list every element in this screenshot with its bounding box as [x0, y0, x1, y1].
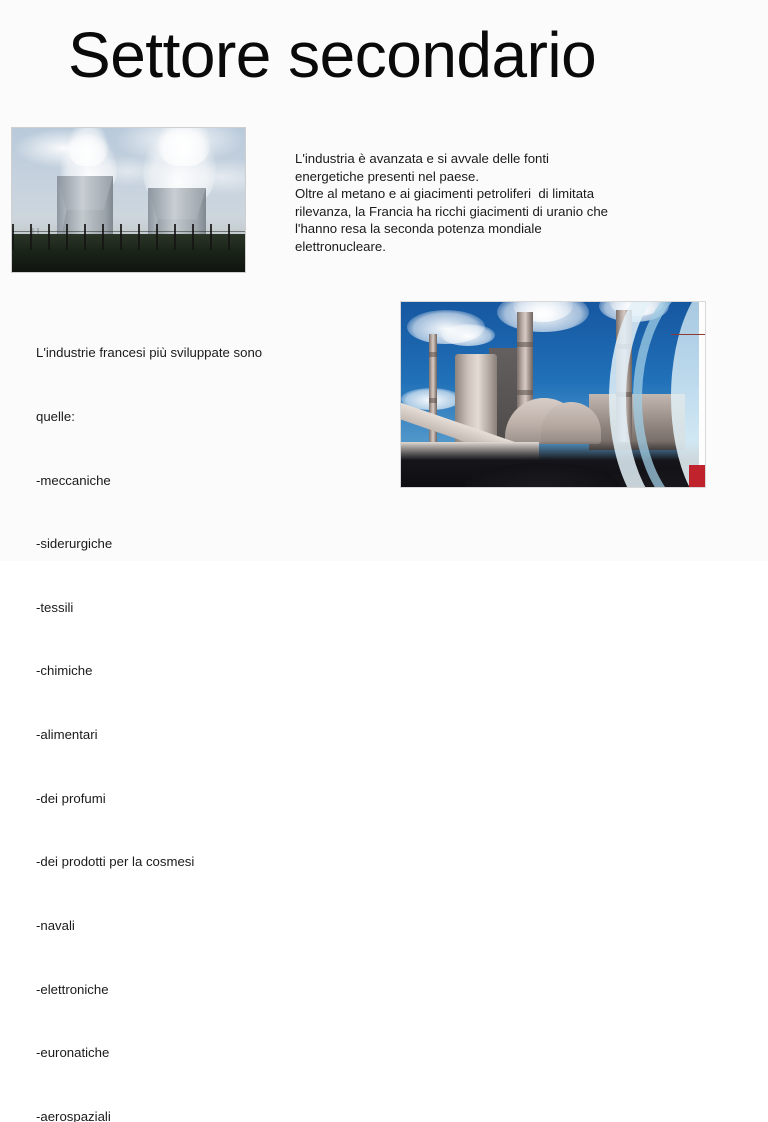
list-item: -chimiche: [36, 660, 336, 681]
list-item: -navali: [36, 915, 336, 936]
stack-band: [429, 398, 437, 403]
power-plant-image: [401, 302, 705, 487]
cooling-tower-right-upper: [148, 188, 206, 221]
steam-plume-left-top: [68, 128, 108, 166]
steam-plume-right-top: [158, 128, 210, 166]
list-item: -meccaniche: [36, 470, 336, 491]
stack-band: [517, 342, 533, 347]
list-item: -dei profumi: [36, 788, 336, 809]
list-item: -dei prodotti per la cosmesi: [36, 851, 336, 872]
list-item: -euronatiche: [36, 1042, 336, 1063]
paragraph-energy: L'industria è avanzata e si avvale delle…: [295, 150, 685, 256]
list-intro-line-2: quelle:: [36, 406, 336, 427]
list-item: -aerospaziali: [36, 1106, 336, 1122]
decorative-thin-line: [671, 334, 705, 335]
page-title: Settore secondario: [68, 22, 718, 89]
list-intro-line-1: L'industrie francesi più sviluppate sono: [36, 342, 336, 363]
list-item: -alimentari: [36, 724, 336, 745]
list-item: -elettroniche: [36, 979, 336, 1000]
decorative-arc-outer: [609, 302, 705, 487]
cooling-tower-left-upper: [57, 176, 113, 211]
stack-band: [517, 390, 533, 395]
cloud: [441, 324, 495, 346]
fence-posts: [12, 224, 245, 250]
cooling-towers-image: [12, 128, 245, 272]
list-item: -tessili: [36, 597, 336, 618]
slide-canvas: Settore secondario L'industria è avanzat…: [0, 0, 768, 561]
stack-band: [429, 352, 437, 357]
industries-list: L'industrie francesi più sviluppate sono…: [36, 300, 336, 1122]
image-right-edge: [699, 302, 705, 487]
decorative-red-tab: [689, 465, 705, 487]
list-item: -siderurgiche: [36, 533, 336, 554]
